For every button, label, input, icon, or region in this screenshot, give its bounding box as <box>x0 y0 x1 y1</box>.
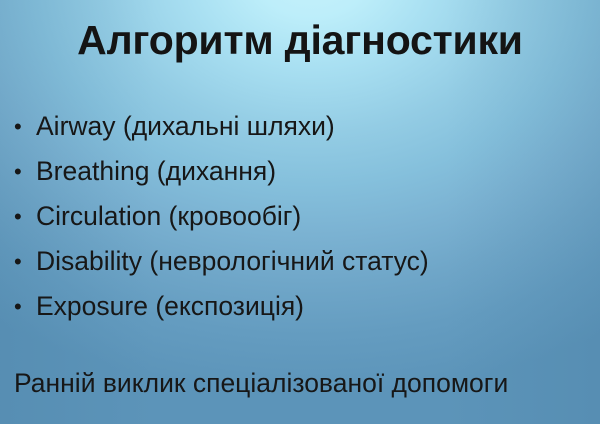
list-item-label: Breathing (дихання) <box>36 156 276 186</box>
bullet-list: • Airway (дихальні шляхи) • Breathing (д… <box>0 104 600 329</box>
list-item-label: Disability (неврологічний статус) <box>36 246 429 276</box>
bullet-point-icon: • <box>14 284 26 329</box>
bullet-point-icon: • <box>14 194 26 239</box>
list-item: • Disability (неврологічний статус) <box>0 239 600 284</box>
bullet-point-icon: • <box>14 239 26 284</box>
list-item-label: Circulation (кровообіг) <box>36 201 301 231</box>
list-item-label: Airway (дихальні шляхи) <box>36 111 335 141</box>
slide-footnote: Ранній виклик спеціалізованої допомоги <box>14 368 508 398</box>
bullet-point-icon: • <box>14 149 26 194</box>
bullet-point-icon: • <box>14 104 26 149</box>
presentation-slide: Алгоритм діагностики • Airway (дихальні … <box>0 0 600 424</box>
page-title: Алгоритм діагностики <box>0 18 600 62</box>
list-item: • Airway (дихальні шляхи) <box>0 104 600 149</box>
list-item: • Breathing (дихання) <box>0 149 600 194</box>
list-item: • Circulation (кровообіг) <box>0 194 600 239</box>
list-item: • Exposure (експозиція) <box>0 284 600 329</box>
list-item-label: Exposure (експозиція) <box>36 291 304 321</box>
slide-content: Алгоритм діагностики • Airway (дихальні … <box>0 0 600 424</box>
